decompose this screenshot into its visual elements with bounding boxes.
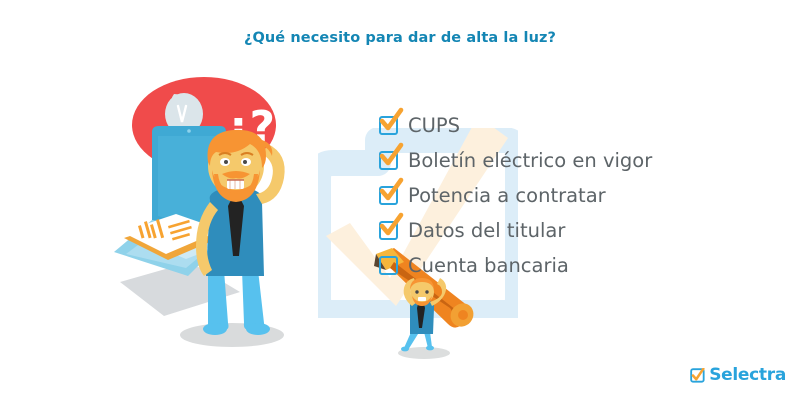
checkbox-checked-icon[interactable]: [379, 151, 398, 170]
checklist-item-label: Potencia a contratar: [408, 186, 606, 206]
checklist-item-label: Boletín eléctrico en vigor: [408, 151, 652, 171]
infographic-canvas: ¿Qué necesito para dar de alta la luz?: [0, 0, 800, 400]
checklist-item-0[interactable]: CUPS: [379, 108, 709, 143]
logo-text: Selectra: [709, 367, 786, 384]
logo-checkbox-icon: [690, 368, 705, 383]
checkbox-unchecked-icon[interactable]: [379, 256, 398, 275]
checkbox-checked-icon[interactable]: [379, 186, 398, 205]
checkbox-checked-icon[interactable]: [379, 116, 398, 135]
confused-man-scene: ¿?: [112, 70, 322, 360]
checklist-item-1[interactable]: Boletín eléctrico en vigor: [379, 143, 709, 178]
requirements-checklist: CUPS Boletín eléctrico en vigor Potencia…: [379, 108, 709, 283]
checklist-item-2[interactable]: Potencia a contratar: [379, 178, 709, 213]
confused-man: [196, 130, 285, 335]
checklist-item-label: Cuenta bancaria: [408, 256, 569, 276]
checklist-item-label: CUPS: [408, 116, 460, 136]
checklist-item-3[interactable]: Datos del titular: [379, 213, 709, 248]
selectra-logo[interactable]: Selectra: [690, 367, 786, 384]
checklist-item-label: Datos del titular: [408, 221, 565, 241]
page-title: ¿Qué necesito para dar de alta la luz?: [0, 30, 800, 46]
checklist-item-4[interactable]: Cuenta bancaria: [379, 248, 709, 283]
checkbox-checked-icon[interactable]: [379, 221, 398, 240]
